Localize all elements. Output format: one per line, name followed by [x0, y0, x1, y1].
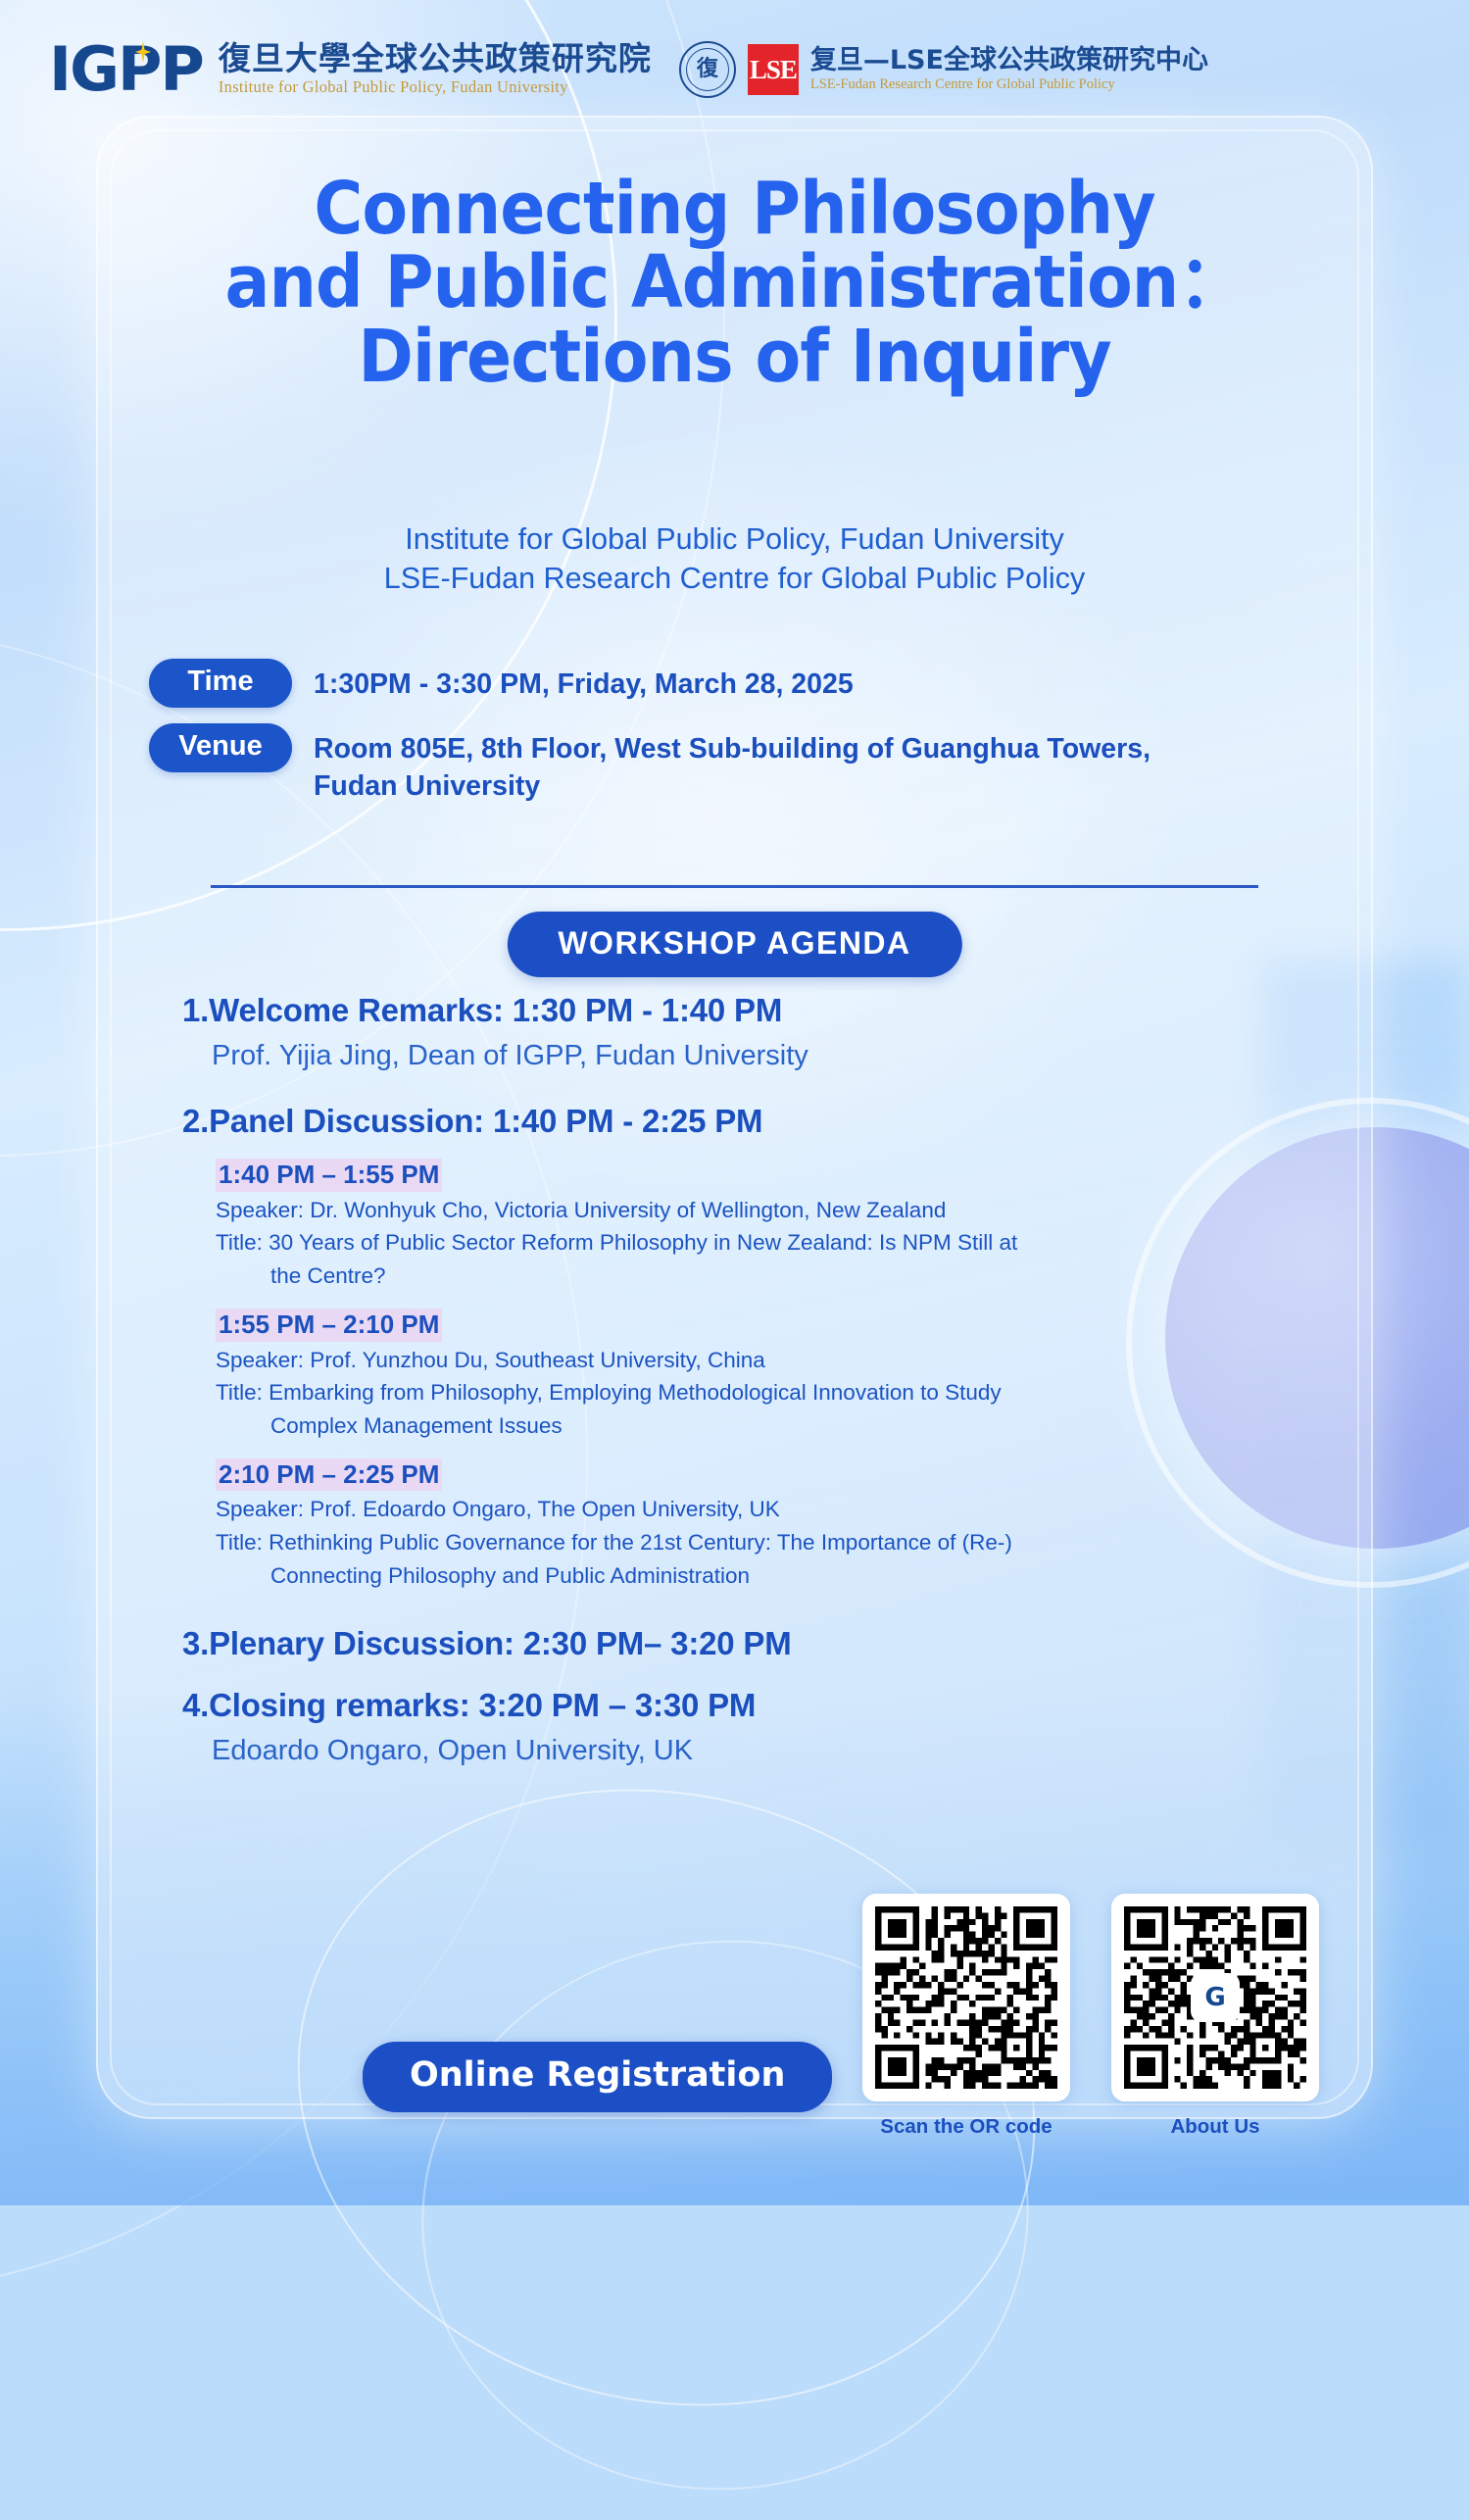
lse-fudan-english-name: LSE-Fudan Research Centre for Global Pub… — [810, 76, 1208, 93]
panel-slot-1-title-line-2: the Centre? — [216, 1261, 1375, 1291]
agenda-item-3-heading: 3.Plenary Discussion: 2:30 PM– 3:20 PM — [182, 1625, 1375, 1663]
qr-block-registration: Scan the OR code — [862, 1894, 1070, 2139]
igpp-name-block: 復旦大學全球公共政策研究院 Institute for Global Publi… — [219, 42, 652, 98]
event-details: Time 1:30PM - 3:30 PM, Friday, March 28,… — [149, 659, 1351, 821]
lse-fudan-chinese-name: 复旦—LSE全球公共政策研究中心 — [810, 46, 1208, 75]
panel-slot-2: 1:55 PM – 2:10 PM Speaker: Prof. Yunzhou… — [216, 1309, 1375, 1441]
panel-slot-3-title-line-2: Connecting Philosophy and Public Adminis… — [216, 1561, 1375, 1591]
agenda-item-4-heading: 4.Closing remarks: 3:20 PM – 3:30 PM — [182, 1687, 1375, 1725]
agenda-gap-3 — [182, 1663, 1375, 1687]
agenda-gap-1 — [182, 1073, 1375, 1103]
poster-title: Connecting Philosophy and Public Adminis… — [122, 173, 1347, 394]
agenda-item-2-heading: 2.Panel Discussion: 1:40 PM - 2:25 PM — [182, 1103, 1375, 1141]
fudan-university-seal-icon: 復 — [679, 41, 736, 98]
panel-slot-2-speaker: Speaker: Prof. Yunzhou Du, Southeast Uni… — [216, 1346, 1375, 1375]
agenda-item-1-speaker: Prof. Yijia Jing, Dean of IGPP, Fudan Un… — [212, 1038, 1375, 1073]
igpp-english-name: Institute for Global Public Policy, Fuda… — [219, 77, 652, 97]
poster-content: IGPP 復旦大學全球公共政策研究院 Institute for Global … — [0, 0, 1469, 2205]
qr-registration-caption: Scan the OR code — [862, 2115, 1070, 2139]
organizer-lines: Institute for Global Public Policy, Fuda… — [69, 519, 1400, 599]
panel-slot-2-time: 1:55 PM – 2:10 PM — [216, 1309, 442, 1342]
agenda-item-1: 1.Welcome Remarks: 1:30 PM - 1:40 PM Pro… — [182, 992, 1375, 1073]
panel-slot-2-title-line-1: Title: Embarking from Philosophy, Employ… — [216, 1378, 1375, 1408]
panel-slot-3-speaker: Speaker: Prof. Edoardo Ongaro, The Open … — [216, 1495, 1375, 1524]
igpp-mini-logo-icon: G — [1193, 1975, 1238, 2020]
igpp-wordmark: IGPP — [49, 39, 213, 100]
agenda-item-2: 2.Panel Discussion: 1:40 PM - 2:25 PM 1:… — [182, 1103, 1375, 1590]
qr-code-registration-image — [875, 1906, 1057, 2089]
section-divider — [211, 885, 1258, 888]
agenda-list: 1.Welcome Remarks: 1:30 PM - 1:40 PM Pro… — [182, 992, 1375, 1768]
panel-slot-1-title-line-2-text: the Centre? — [216, 1261, 1375, 1291]
panel-slot-3-time: 2:10 PM – 2:25 PM — [216, 1458, 442, 1492]
time-row: Time 1:30PM - 3:30 PM, Friday, March 28,… — [149, 659, 1351, 708]
workshop-agenda-badge: WORKSHOP AGENDA — [507, 912, 961, 977]
lse-logo-icon: LSE — [748, 44, 799, 95]
panel-slot-2-title-line-2-text: Complex Management Issues — [216, 1411, 1375, 1441]
title-line-1: Connecting Philosophy — [122, 173, 1347, 246]
organizer-line-1: Institute for Global Public Policy, Fuda… — [69, 519, 1400, 559]
agenda-item-3: 3.Plenary Discussion: 2:30 PM– 3:20 PM — [182, 1625, 1375, 1663]
panel-slot-1: 1:40 PM – 1:55 PM Speaker: Dr. Wonhyuk C… — [216, 1159, 1375, 1291]
agenda-item-4: 4.Closing remarks: 3:20 PM – 3:30 PM Edo… — [182, 1687, 1375, 1768]
fudan-seal-glyph: 復 — [697, 59, 718, 80]
agenda-item-1-heading: 1.Welcome Remarks: 1:30 PM - 1:40 PM — [182, 992, 1375, 1030]
igpp-acronym-text: IGPP — [49, 33, 203, 105]
organizer-line-2: LSE-Fudan Research Centre for Global Pub… — [69, 559, 1400, 598]
panel-slot-3-title-line-2-text: Connecting Philosophy and Public Adminis… — [216, 1561, 1375, 1591]
qr-code-about-us[interactable]: G — [1111, 1894, 1319, 2101]
panel-slot-3-title-line-1: Title: Rethinking Public Governance for … — [216, 1528, 1375, 1557]
panel-slot-1-time: 1:40 PM – 1:55 PM — [216, 1159, 442, 1192]
time-value: 1:30PM - 3:30 PM, Friday, March 28, 2025 — [314, 659, 854, 704]
agenda-gap-2 — [182, 1590, 1375, 1625]
qr-code-group: Scan the OR code G About Us — [862, 1894, 1319, 2139]
qr-block-about: G About Us — [1111, 1894, 1319, 2139]
panel-slot-2-title-line-2: Complex Management Issues — [216, 1411, 1375, 1441]
agenda-item-4-speaker: Edoardo Ongaro, Open University, UK — [212, 1733, 1375, 1768]
time-label-pill: Time — [149, 659, 292, 708]
venue-label-pill: Venue — [149, 723, 292, 772]
qr-code-registration[interactable] — [862, 1894, 1070, 2101]
title-line-3: Directions of Inquiry — [122, 321, 1347, 394]
panel-slot-3: 2:10 PM – 2:25 PM Speaker: Prof. Edoardo… — [216, 1458, 1375, 1591]
logo-header: IGPP 復旦大學全球公共政策研究院 Institute for Global … — [49, 25, 1434, 114]
venue-row: Venue Room 805E, 8th Floor, West Sub-bui… — [149, 723, 1351, 806]
online-registration-button[interactable]: Online Registration — [363, 2042, 832, 2112]
panel-slot-1-title-line-1: Title: 30 Years of Public Sector Reform … — [216, 1228, 1375, 1258]
panel-slot-1-speaker: Speaker: Dr. Wonhyuk Cho, Victoria Unive… — [216, 1196, 1375, 1225]
venue-value: Room 805E, 8th Floor, West Sub-building … — [314, 723, 1196, 806]
qr-about-caption: About Us — [1111, 2115, 1319, 2139]
igpp-chinese-name: 復旦大學全球公共政策研究院 — [219, 42, 652, 76]
title-line-2: and Public Administration： — [122, 246, 1347, 320]
lse-fudan-centre-name-block: 复旦—LSE全球公共政策研究中心 LSE-Fudan Research Cent… — [810, 46, 1208, 93]
